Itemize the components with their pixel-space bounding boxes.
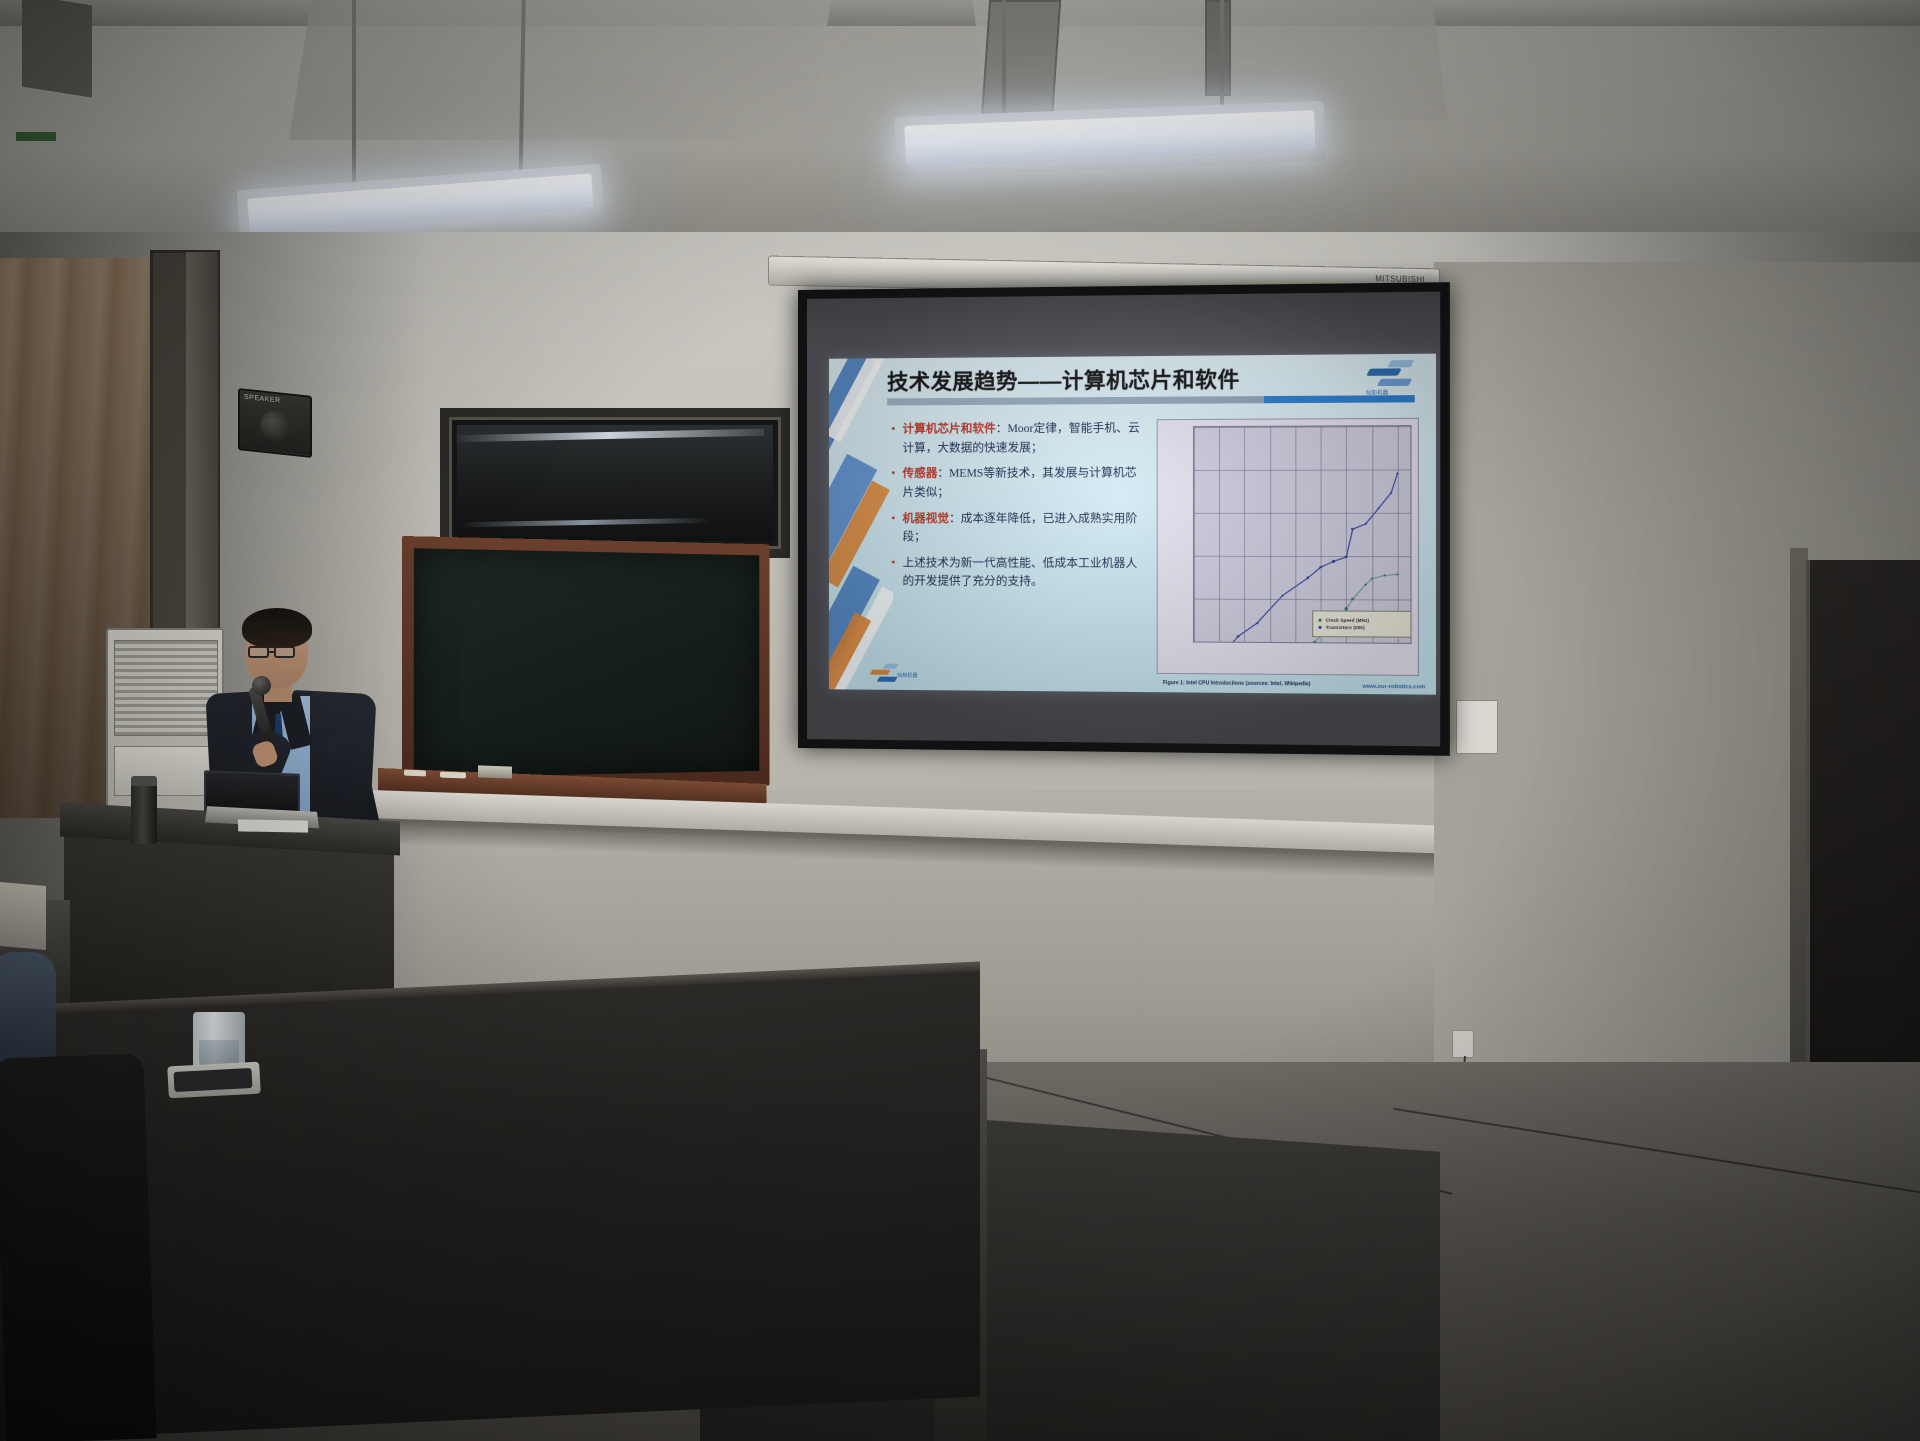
- figure-caption: Figure 1: Intel CPU Introductions (sourc…: [1163, 680, 1372, 689]
- chart-data-point: [1390, 491, 1393, 493]
- chart-data-point: [1351, 528, 1354, 530]
- eyeglasses-icon: [248, 646, 269, 658]
- legend-item: Clock Speed (MHz): [1318, 618, 1405, 624]
- bullet-text: 上述技术为新一代高性能、低成本工业机器人的开发提供了充分的支持。: [902, 554, 1146, 592]
- presenter-hair: [242, 608, 312, 648]
- chart-data-point: [1364, 583, 1367, 585]
- blackboard-eraser: [478, 765, 512, 778]
- bullet-dot-icon: •: [891, 509, 895, 546]
- chalk-stick: [440, 772, 466, 779]
- ceiling-panel-left: [289, 0, 831, 140]
- chart-data-point: [1281, 594, 1284, 596]
- ceiling-vent-center: [981, 0, 1061, 120]
- ceiling-vent-right: [1205, 0, 1231, 96]
- papers: [238, 819, 308, 832]
- thermos-cap: [131, 776, 157, 786]
- fluorescent-light-right: [904, 110, 1315, 166]
- eyeglasses-bridge: [269, 651, 275, 653]
- chart-legend: Clock Speed (MHz) Transistors (000): [1312, 610, 1411, 637]
- bullet-highlight: 计算机芯片和软件: [902, 423, 995, 436]
- screen-surface: 技术发展趋势——计算机芯片和软件 仙知机器 • 计算机芯片和软件：Moor定律，…: [807, 292, 1440, 747]
- eyeglasses-icon: [274, 646, 295, 658]
- bullet-item: • 机器视觉：成本逐年降低，已进入成熟实用阶段；: [891, 509, 1146, 547]
- chart-gridline-v: [1219, 427, 1220, 642]
- bullet-highlight: 机器视觉: [902, 512, 948, 524]
- company-logo: 仙知机器: [1366, 358, 1425, 393]
- chart-gridline-h: [1194, 599, 1410, 601]
- legend-label: Clock Speed (MHz): [1326, 618, 1369, 623]
- chalk-stick: [404, 770, 426, 777]
- smartphone-screen[interactable]: [174, 1068, 253, 1092]
- ceiling-vent-left: [22, 0, 92, 98]
- chart-gridline-h: [1194, 469, 1410, 471]
- speaker-label-left: SPEAKER: [244, 394, 281, 405]
- bullet-text: 机器视觉：成本逐年降低，已进入成熟实用阶段；: [902, 509, 1146, 547]
- speaker-cone-icon: [260, 409, 290, 442]
- bullet-rest: 上述技术为新一代高性能、低成本工业机器人的开发提供了充分的支持。: [902, 557, 1137, 588]
- logo-bar-icon: [877, 677, 898, 682]
- bullet-dot-icon: •: [891, 420, 895, 457]
- lamp-stem: [1220, 0, 1224, 118]
- chart-gridline-v: [1270, 427, 1271, 642]
- legend-item: Transistors (000): [1318, 625, 1405, 631]
- bullet-text: 传感器：MEMS等新技术，其发展与计算机芯片类似；: [902, 464, 1146, 502]
- bullet-rest: ：MEMS等新技术，其发展与计算机芯片类似；: [902, 467, 1136, 498]
- chart-gridline-v: [1194, 427, 1195, 641]
- chart-gridline-h: [1194, 641, 1410, 643]
- logo-bar-icon: [883, 664, 899, 669]
- logo-bar-icon: [1366, 368, 1402, 375]
- logo-bar-icon: [870, 670, 891, 675]
- chart-data-point: [1383, 574, 1386, 576]
- foreground-chair: [0, 1053, 157, 1441]
- ac-display: [16, 132, 56, 141]
- seated-attendee: [0, 952, 56, 1072]
- slide-footer-logo: 仙知机器: [871, 664, 919, 687]
- cpu-trend-chart: 1000000010000001000001000010001001975197…: [1157, 418, 1419, 676]
- lamp-stem: [1002, 0, 1006, 124]
- blackboard-surface: [414, 548, 759, 778]
- chart-gridline-v: [1245, 427, 1246, 642]
- projection-screen: 技术发展趋势——计算机芯片和软件 仙知机器 • 计算机芯片和软件：Moor定律，…: [798, 282, 1450, 756]
- lamp-stem: [352, 0, 356, 190]
- chart-data-point: [1364, 523, 1367, 525]
- cardboard-box: [0, 882, 46, 950]
- presentation-slide: 技术发展趋势——计算机芯片和软件 仙知机器 • 计算机芯片和软件：Moor定律，…: [829, 354, 1436, 695]
- slide-title: 技术发展趋势——计算机芯片和软件: [887, 362, 1427, 396]
- bullet-dot-icon: •: [891, 465, 895, 502]
- slide-bullet-list: • 计算机芯片和软件：Moor定律，智能手机、云计算，大数据的快速发展； • 传…: [891, 419, 1146, 599]
- slide-decoration: [829, 358, 893, 690]
- logo-bar-icon: [1387, 360, 1414, 367]
- chart-data-point: [1332, 560, 1335, 562]
- legend-label: Transistors (000): [1326, 625, 1365, 630]
- legend-color-dot: [1318, 619, 1321, 622]
- thermos-bottle: [131, 782, 157, 844]
- wall-notice: [1456, 700, 1498, 754]
- bullet-dot-icon: •: [891, 554, 895, 591]
- slide-url: www.our-robotics.com: [1362, 684, 1425, 691]
- wall-speaker-left: SPEAKER: [238, 388, 312, 458]
- footer-logo-text: 仙知机器: [897, 672, 917, 679]
- logo-bar-icon: [1377, 379, 1413, 386]
- chart-gridline-v: [1295, 427, 1296, 642]
- ceiling-beam: [0, 0, 1920, 26]
- lecture-hall-scene: SPEAKER MITSUBISHI: [0, 0, 1920, 1441]
- door[interactable]: [1806, 560, 1920, 1062]
- chart-data-point: [1377, 507, 1380, 509]
- chart-data-point: [1307, 577, 1310, 579]
- chart-gridline-h: [1194, 426, 1410, 428]
- microphone-icon: [252, 676, 271, 695]
- bullet-item: • 上述技术为新一代高性能、低成本工业机器人的开发提供了充分的支持。: [891, 554, 1146, 592]
- bullet-item: • 传感器：MEMS等新技术，其发展与计算机芯片类似；: [891, 464, 1146, 502]
- chart-data-point: [1256, 622, 1259, 624]
- chart-data-point: [1237, 635, 1239, 637]
- legend-color-dot: [1318, 626, 1321, 629]
- blackboard: [402, 536, 770, 794]
- chart-gridline-h: [1194, 513, 1410, 514]
- logo-wordmark: 仙知机器: [1366, 389, 1388, 396]
- chart-gridline-h: [1194, 556, 1410, 557]
- bullet-highlight: 传感器: [902, 468, 937, 480]
- bullet-text: 计算机芯片和软件：Moor定律，智能手机、云计算，大数据的快速发展；: [902, 419, 1146, 458]
- bullet-item: • 计算机芯片和软件：Moor定律，智能手机、云计算，大数据的快速发展；: [891, 419, 1146, 458]
- power-outlet[interactable]: [1452, 1030, 1474, 1058]
